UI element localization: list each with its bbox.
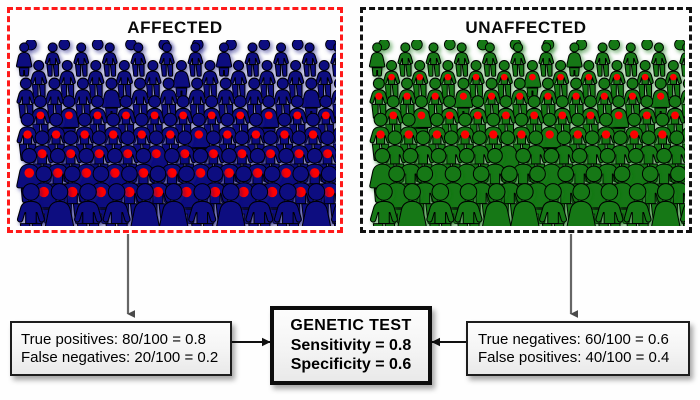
true-positives-line: True positives: 80/100 = 0.8 [21,331,206,349]
false-positives-line: False positives: 40/100 = 0.4 [478,349,669,367]
specificity-line: Specificity = 0.6 [291,355,412,375]
affected-crowd-graphic [14,40,336,226]
affected-results-box: True positives: 80/100 = 0.8 False negat… [10,321,232,376]
false-negatives-line: False negatives: 20/100 = 0.2 [21,349,218,367]
unaffected-crowd [367,40,685,226]
panel-unaffected-title: UNAFFECTED [363,18,689,38]
affected-crowd [14,40,336,226]
genetic-test-box: GENETIC TEST Sensitivity = 0.8 Specifici… [270,306,432,385]
diagram-canvas: AFFECTED UNAFFECTED True [0,0,700,400]
sensitivity-line: Sensitivity = 0.8 [291,336,412,356]
true-negatives-line: True negatives: 60/100 = 0.6 [478,331,669,349]
panel-affected-title: AFFECTED [10,18,340,38]
panel-unaffected: UNAFFECTED [360,7,692,233]
unaffected-crowd-graphic [367,40,685,226]
genetic-test-title: GENETIC TEST [290,316,411,335]
unaffected-results-box: True negatives: 60/100 = 0.6 False posit… [466,321,690,376]
panel-affected: AFFECTED [7,7,343,233]
